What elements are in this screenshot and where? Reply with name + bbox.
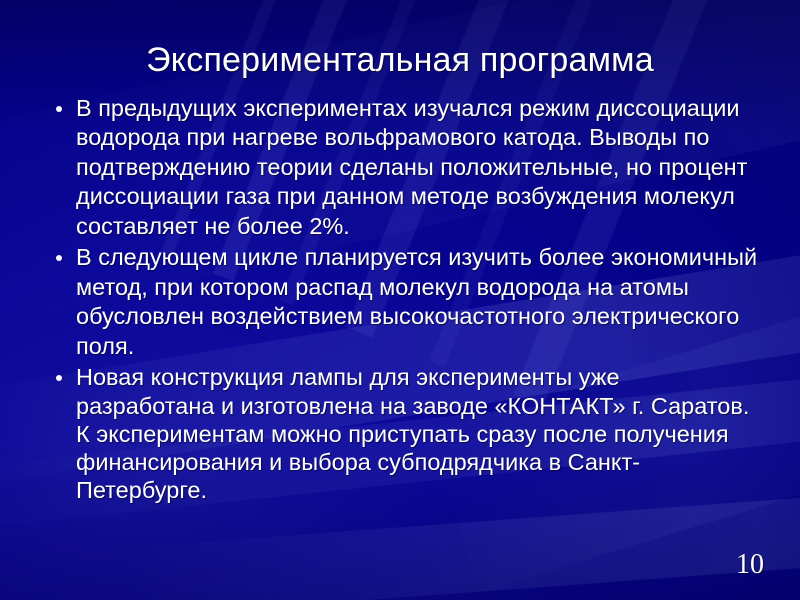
bullet-list: В предыдущих экспериментах изучался режи…	[50, 94, 760, 504]
list-item: В предыдущих экспериментах изучался режи…	[50, 94, 760, 241]
presentation-slide: Экспериментальная программа В предыдущих…	[0, 0, 800, 600]
list-item-text: Новая конструкция лампы для эксперименты…	[76, 364, 749, 503]
page-number: 10	[0, 551, 764, 579]
slide-content: Экспериментальная программа В предыдущих…	[0, 0, 800, 600]
bullet-dot-icon	[56, 106, 62, 112]
list-item: В следующем цикле планируется изучить бо…	[50, 243, 760, 361]
bullet-dot-icon	[56, 375, 62, 381]
list-item-text: В следующем цикле планируется изучить бо…	[76, 244, 757, 358]
bullet-dot-icon	[56, 255, 62, 261]
list-item-text: В предыдущих экспериментах изучался режи…	[76, 95, 747, 239]
slide-title: Экспериментальная программа	[0, 41, 800, 80]
slide-body: В предыдущих экспериментах изучался режи…	[50, 94, 760, 506]
list-item: Новая конструкция лампы для эксперименты…	[50, 363, 760, 504]
